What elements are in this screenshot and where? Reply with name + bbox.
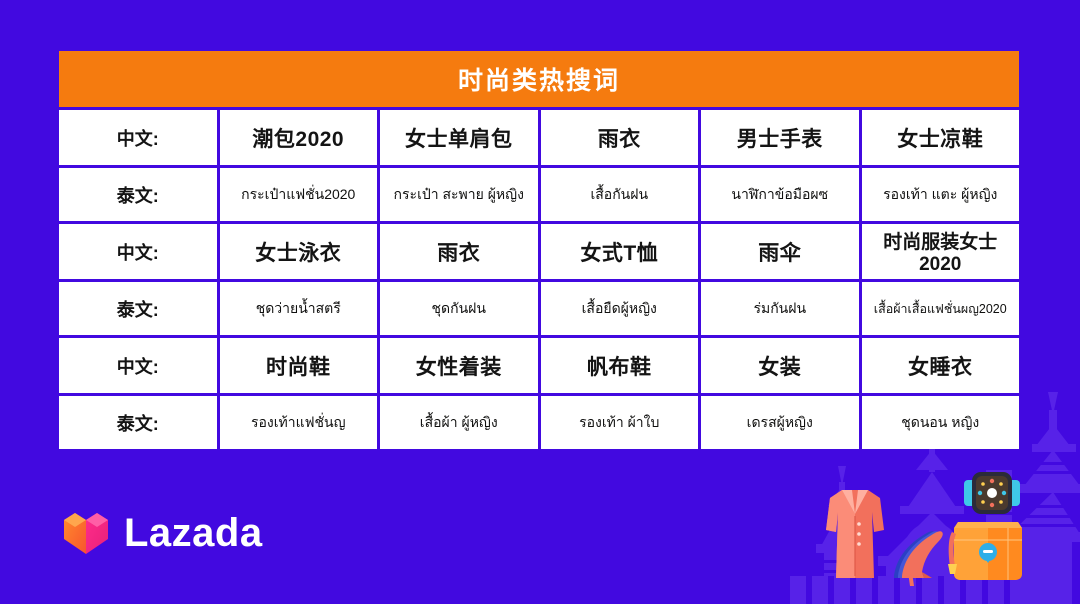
keyword-cell-zh[interactable]: 雨衣 [541,110,699,165]
fashion-products-illustration [812,468,1062,598]
keyword-cell-zh[interactable]: 时尚服装女士2020 [862,224,1020,279]
keyword-cell-zh[interactable]: 女士单肩包 [380,110,538,165]
keyword-cell-th[interactable]: กระเป๋าแฟชั่น2020 [220,168,378,221]
row-label-chinese: 中文: [59,338,217,393]
keyword-cell-th[interactable]: ร่มกันฝน [701,282,859,335]
keyword-cell-zh[interactable]: 女式T恤 [541,224,699,279]
keyword-cell-th[interactable]: นาฬิกาข้อมือผซ [701,168,859,221]
keyword-cell-th[interactable]: เสื้อกันฝน [541,168,699,221]
row-label-chinese: 中文: [59,224,217,279]
keyword-table: 时尚类热搜词 中文: 潮包2020 女士单肩包 雨衣 男士手表 女士凉鞋 泰文:… [56,48,1022,452]
keyword-cell-th[interactable]: เสื้อยืดผู้หญิง [541,282,699,335]
keyword-cell-th[interactable]: รองเท้าแฟชั่นญ [220,396,378,449]
keyword-cell-zh[interactable]: 女士泳衣 [220,224,378,279]
coat-icon [826,490,884,578]
high-heel-shoe-icon [894,531,943,586]
keyword-cell-zh[interactable]: 男士手表 [701,110,859,165]
table-row: 中文: 潮包2020 女士单肩包 雨衣 男士手表 女士凉鞋 [59,110,1019,165]
table-row: 中文: 女士泳衣 雨衣 女式T恤 雨伞 时尚服装女士2020 [59,224,1019,279]
keyword-cell-th[interactable]: เสื้อผ้าเสื้อแฟชั่นผญ2020 [862,282,1020,335]
table-row: 中文: 时尚鞋 女性着装 帆布鞋 女装 女睡衣 [59,338,1019,393]
keyword-table-container: 时尚类热搜词 中文: 潮包2020 女士单肩包 雨衣 男士手表 女士凉鞋 泰文:… [56,48,1022,452]
keyword-cell-zh[interactable]: 潮包2020 [220,110,378,165]
row-label-chinese: 中文: [59,110,217,165]
keyword-cell-zh[interactable]: 时尚鞋 [220,338,378,393]
lazada-logo[interactable]: Lazada [62,510,263,556]
table-row: 泰文: รองเท้าแฟชั่นญ เสื้อผ้า ผู้หญิง รองเ… [59,396,1019,449]
keyword-cell-th[interactable]: รองเท้า ผ้าใบ [541,396,699,449]
table-row: 泰文: กระเป๋าแฟชั่น2020 กระเป๋า สะพาย ผู้ห… [59,168,1019,221]
keyword-cell-th[interactable]: เดรสผู้หญิง [701,396,859,449]
lazada-heart-box-icon [62,510,110,556]
keyword-cell-th[interactable]: ชุดกันฝน [380,282,538,335]
keyword-cell-th[interactable]: ชุดว่ายน้ำสตรี [220,282,378,335]
keyword-cell-zh[interactable]: 女睡衣 [862,338,1020,393]
keyword-cell-zh[interactable]: 雨衣 [380,224,538,279]
page-title: 时尚类热搜词 [59,51,1019,107]
handbag-icon [948,522,1022,580]
smart-watch-icon [964,472,1020,514]
keyword-cell-zh[interactable]: 女装 [701,338,859,393]
keyword-cell-zh[interactable]: 女性着装 [380,338,538,393]
keyword-cell-th[interactable]: กระเป๋า สะพาย ผู้หญิง [380,168,538,221]
row-label-thai: 泰文: [59,282,217,335]
table-row: 泰文: ชุดว่ายน้ำสตรี ชุดกันฝน เสื้อยืดผู้ห… [59,282,1019,335]
keyword-cell-th[interactable]: ชุดนอน หญิง [862,396,1020,449]
brand-name: Lazada [124,513,263,553]
keyword-cell-zh[interactable]: 女士凉鞋 [862,110,1020,165]
row-label-thai: 泰文: [59,396,217,449]
row-label-thai: 泰文: [59,168,217,221]
keyword-cell-th[interactable]: รองเท้า แตะ ผู้หญิง [862,168,1020,221]
keyword-cell-zh[interactable]: 雨伞 [701,224,859,279]
keyword-cell-th[interactable]: เสื้อผ้า ผู้หญิง [380,396,538,449]
keyword-cell-zh[interactable]: 帆布鞋 [541,338,699,393]
table-header-row: 时尚类热搜词 [59,51,1019,107]
